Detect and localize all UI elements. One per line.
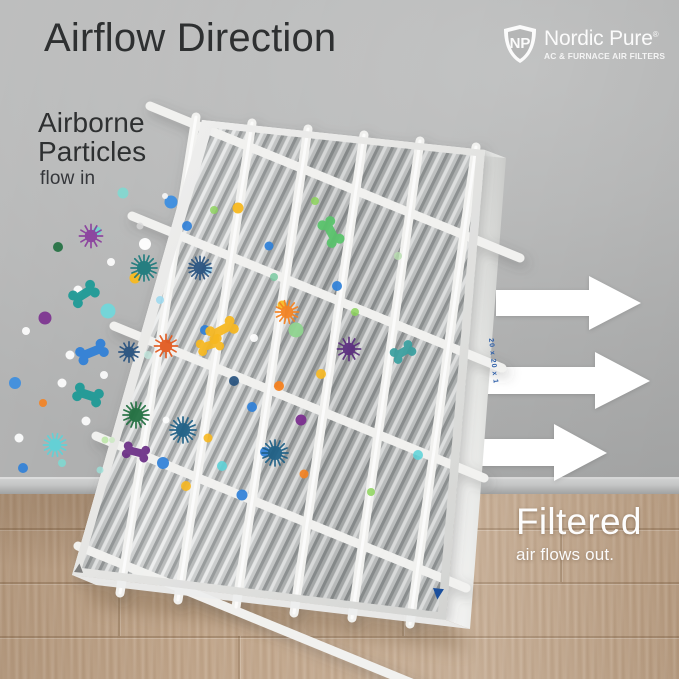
logo-tagline: AC & FURNACE AIR FILTERS xyxy=(544,52,665,60)
airflow-arrow-top xyxy=(496,276,641,332)
logo-monogram: NP xyxy=(510,35,531,52)
shield-icon: NP xyxy=(503,24,537,64)
filtered-callout-line1: Filtered xyxy=(516,503,642,540)
airflow-arrow-bottom xyxy=(462,424,607,482)
logo-brand-name: Nordic Pure® xyxy=(544,28,665,49)
page-title: Airflow Direction xyxy=(44,16,336,61)
filtered-callout-line2: air flows out. xyxy=(516,545,642,565)
product-infographic: 20 x 20 x 1 Airflow Direction Airborne P… xyxy=(0,0,679,679)
filtered-callout: Filtered air flows out. xyxy=(516,503,642,565)
brand-logo: NP Nordic Pure® AC & FURNACE AIR FILTERS xyxy=(503,24,665,64)
airborne-callout-line2: Particles xyxy=(38,137,146,166)
airborne-callout-line1: Airborne xyxy=(38,108,146,137)
airflow-arrow-middle xyxy=(478,352,650,410)
airborne-callout: Airborne Particles flow in xyxy=(38,108,146,190)
wall-light-sheen xyxy=(0,0,679,494)
airborne-callout-line3: flow in xyxy=(40,168,146,190)
logo-registered-mark: ® xyxy=(653,30,659,39)
